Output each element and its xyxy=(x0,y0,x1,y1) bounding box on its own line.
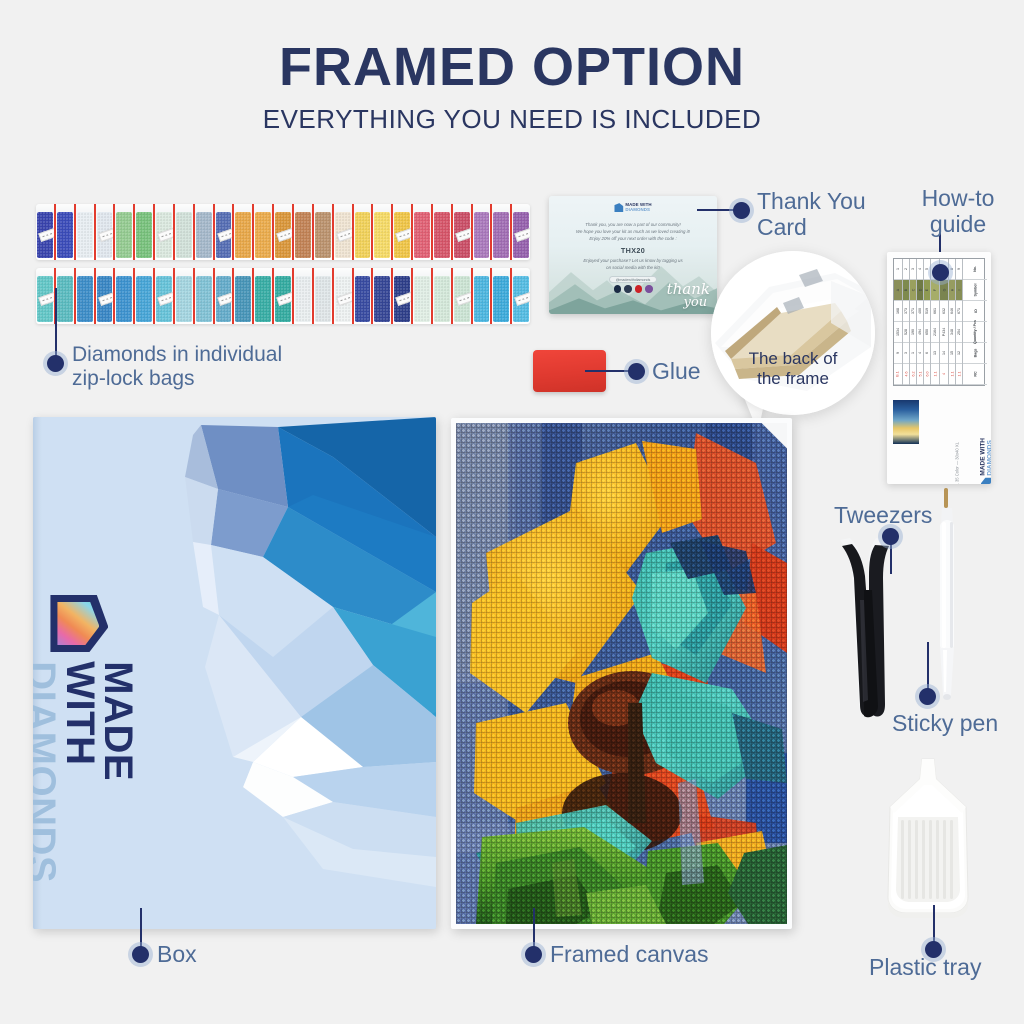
guide-table-cell: 632 xyxy=(940,301,948,322)
diamond-beads xyxy=(136,212,152,258)
zip-lock-bag xyxy=(433,204,453,260)
diamond-beads xyxy=(474,212,490,258)
zip-lock-bag xyxy=(274,204,294,260)
thank-you-card: MADE WITH DIAMONDS Thank you, you are no… xyxy=(549,196,717,314)
label-thank-you-line2: Card xyxy=(757,215,897,241)
diamond-beads xyxy=(355,276,371,322)
zip-lock-bag xyxy=(354,268,374,324)
guide-table-cell: 5 xyxy=(924,259,930,280)
diamond-beads xyxy=(474,276,490,322)
diamond-logo-icon xyxy=(50,595,108,652)
guide-table-cell: 1.1 xyxy=(931,364,939,385)
diamond-beads xyxy=(176,276,192,322)
guide-table-cell: H xyxy=(949,280,955,301)
diamond-beads xyxy=(196,212,212,258)
zip-lock-bag xyxy=(413,268,433,324)
zip-lock-bag xyxy=(433,268,453,324)
framed-canvas xyxy=(451,418,792,929)
diamond-beads xyxy=(434,212,450,258)
zip-lock-bag xyxy=(334,204,354,260)
guide-table-header-cell: Symbol xyxy=(963,280,987,301)
diamond-beads xyxy=(116,212,132,258)
guide-table-cell: 2 xyxy=(903,259,909,280)
diamond-beads xyxy=(295,276,311,322)
canvas-artwork xyxy=(456,423,787,924)
diamond-beads xyxy=(414,212,430,258)
label-how-to-line1: How-to xyxy=(893,186,1023,212)
guide-logo-bottom: DIAMONDS xyxy=(988,438,991,476)
guide-table-cell: 4 xyxy=(940,364,948,385)
zip-lock-bag xyxy=(393,204,413,260)
card-line-3: Enjoy 20% off your next order with the c… xyxy=(557,236,709,243)
zip-lock-bag xyxy=(215,204,235,260)
how-to-callout-dot[interactable] xyxy=(932,264,949,281)
label-plastic-tray-line1: Plastic tray xyxy=(869,955,981,981)
card-logo-bottom: DIAMONDS xyxy=(625,208,651,213)
guide-table-header-cell: RC xyxy=(963,364,987,385)
product-box: MADE WITH DIAMONDS xyxy=(33,417,436,929)
zip-lock-bag xyxy=(453,204,473,260)
diamond-beads xyxy=(57,212,73,258)
label-how-to-line2: guide xyxy=(893,212,1023,238)
zip-lock-bag xyxy=(373,268,393,324)
zip-lock-bag xyxy=(76,268,96,324)
zip-lock-bag xyxy=(334,268,354,324)
zip-lock-bag xyxy=(56,268,76,324)
guide-table-cell: G xyxy=(940,280,948,301)
zip-lock-bag xyxy=(512,268,530,324)
bubble-caption: The back of the frame xyxy=(711,349,875,389)
guide-table-cell: 646 xyxy=(949,301,955,322)
guide-table-cell: P434 xyxy=(940,322,948,343)
zip-lock-bag xyxy=(234,268,254,324)
diamond-beads xyxy=(255,276,271,322)
diamond-beads xyxy=(196,276,212,322)
zip-lock-bag xyxy=(36,268,56,324)
zip-lock-bag xyxy=(56,204,76,260)
zip-lock-bag xyxy=(254,204,274,260)
guide-table-header-column: No.SymbolIDQuantity / PcsBagsRC xyxy=(963,259,987,385)
box-logo-top: MADE WITH xyxy=(60,661,137,894)
guide-table-cell: 671 xyxy=(956,301,962,322)
bubble-caption-line1: The back of xyxy=(711,349,875,369)
tweezers-callout-dot[interactable] xyxy=(882,528,899,545)
pinterest-icon xyxy=(635,285,643,293)
guide-table-cell: 4 xyxy=(917,259,923,280)
card-line-4: Enjoyed your purchase? Let us know by ta… xyxy=(557,258,709,265)
diamond-beads xyxy=(493,276,509,322)
guide-table-row: 4D40049445.1 xyxy=(917,259,924,385)
label-diamonds-line2: zip-lock bags xyxy=(72,367,372,391)
guide-logo-text: MADE WITH DIAMONDS xyxy=(981,438,991,476)
glue-callout-dot[interactable] xyxy=(628,363,645,380)
diamond-beads xyxy=(295,212,311,258)
diamond-beads xyxy=(315,276,331,322)
label-glue: Glue xyxy=(652,359,701,385)
zip-lock-bag xyxy=(234,204,254,260)
card-thanks-script: thank you xyxy=(667,283,710,309)
guide-table-cell: 6.0 xyxy=(924,364,930,385)
guide-table-cell: B.1 xyxy=(894,364,902,385)
zip-lock-bag xyxy=(413,204,433,260)
box-logo-text: MADE WITH DIAMONDS xyxy=(33,661,137,894)
card-line-5: on social media with the kit! xyxy=(557,265,709,272)
guide-table-row: 8H646348151.1 xyxy=(949,259,956,385)
zip-lock-bag xyxy=(473,268,493,324)
label-framed-canvas: Framed canvas xyxy=(550,942,709,968)
zip-lock-bag xyxy=(492,268,512,324)
zip-lock-bag xyxy=(254,268,274,324)
diamond-beads xyxy=(434,276,450,322)
guide-table-cell: 348 xyxy=(949,322,955,343)
label-thank-you-card: Thank You Card xyxy=(757,189,897,241)
diamond-beads xyxy=(255,212,271,258)
zip-lock-bag xyxy=(76,204,96,260)
label-glue-line1: Glue xyxy=(652,359,701,385)
guide-note: No. 35 Color — 30x40 XL xyxy=(955,442,960,484)
zip-lock-bag xyxy=(115,268,135,324)
diamond-logo-icon xyxy=(981,478,991,484)
tweezers-leader-line xyxy=(890,540,892,574)
label-plastic-tray: Plastic tray xyxy=(869,955,981,981)
box-callout-dot[interactable] xyxy=(132,946,149,963)
card-line-1: Thank you, you are now a part of our com… xyxy=(557,222,709,229)
guide-table-cell: 4.6 xyxy=(903,364,909,385)
guide-table-cell: B xyxy=(903,280,909,301)
guide-table-cell: 14 xyxy=(940,343,948,364)
box-logo-bottom: DIAMONDS xyxy=(33,661,60,894)
guide-table-cell: 1534 xyxy=(894,322,902,343)
zip-lock-bag xyxy=(453,268,473,324)
label-how-to-guide: How-to guide xyxy=(893,186,1023,238)
label-tweezers-line1: Tweezers xyxy=(834,503,932,529)
guide-table-cell: 400 xyxy=(917,301,923,322)
guide-table-cell: 519 xyxy=(924,301,930,322)
zip-lock-bag xyxy=(96,268,116,324)
label-box-line1: Box xyxy=(157,942,197,968)
diamond-beads xyxy=(374,212,390,258)
guide-table-header-cell: ID xyxy=(963,301,987,322)
guide-table-row: 2B37352834.6 xyxy=(903,259,910,385)
frame-back-bubble: The back of the frame xyxy=(711,251,875,415)
box-logo: MADE WITH DIAMONDS xyxy=(33,595,137,894)
card-discount-code: THX20 xyxy=(557,246,709,255)
instagram-icon xyxy=(624,285,632,293)
label-sticky-pen: Sticky pen xyxy=(892,711,998,737)
guide-table-cell: 528 xyxy=(903,322,909,343)
guide-table-cell: 168 xyxy=(894,301,902,322)
guide-table-cell: 373 xyxy=(903,301,909,322)
diamond-beads xyxy=(57,276,73,322)
zip-lock-bag xyxy=(135,268,155,324)
guide-table-cell: E xyxy=(924,280,930,301)
guide-table-cell: 8 xyxy=(949,259,955,280)
guide-table-row: 5E51965066.0 xyxy=(924,259,931,385)
plastic-tray-leader-line xyxy=(933,905,935,945)
diamond-beads xyxy=(235,212,251,258)
guide-table-cell: D xyxy=(917,280,923,301)
facebook-icon xyxy=(614,285,622,293)
guide-table-cell: F xyxy=(931,280,939,301)
zip-lock-bag xyxy=(314,204,334,260)
guide-table-cell: 9 xyxy=(956,259,962,280)
label-tweezers: Tweezers xyxy=(834,503,932,529)
label-diamonds: Diamonds in individual zip-lock bags xyxy=(72,343,372,390)
canvas-corner-fold xyxy=(761,423,787,449)
glue-leader-line xyxy=(585,370,633,372)
guide-table-cell: 2164 xyxy=(931,322,939,343)
bubble-caption-line2: the frame xyxy=(711,369,875,389)
guide-table-cell: 494 xyxy=(917,322,923,343)
guide-table-cell: 1.1 xyxy=(949,364,955,385)
diamond-beads xyxy=(136,276,152,322)
box-leader-line xyxy=(140,908,142,950)
diamond-beads xyxy=(77,212,93,258)
zip-lock-bag xyxy=(274,268,294,324)
guide-table-cell: C xyxy=(910,280,916,301)
diamond-beads xyxy=(176,212,192,258)
guide-table-cell: 371 xyxy=(910,301,916,322)
label-diamonds-line1: Diamonds in individual xyxy=(72,343,372,367)
diamond-beads xyxy=(116,276,132,322)
framed-canvas-leader-line xyxy=(533,908,535,950)
infographic-canvas: FRAMED OPTION EVERYTHING YOU NEED IS INC… xyxy=(0,0,1024,1024)
card-logo: MADE WITH DIAMONDS xyxy=(614,203,651,212)
zip-lock-bag xyxy=(294,268,314,324)
zip-lock-bag xyxy=(314,268,334,324)
zip-lock-bag xyxy=(175,268,195,324)
zip-lock-bag xyxy=(492,204,512,260)
guide-table-cell: 650 xyxy=(924,322,930,343)
how-to-guide-sheet: 1A16815349B.12B37352834.63C37119016.24D4… xyxy=(887,252,991,484)
zip-lock-bag xyxy=(195,204,215,260)
guide-table-cell: 6 xyxy=(924,343,930,364)
guide-table-row: 1A16815349B.1 xyxy=(894,259,903,385)
zip-lock-bag-strip-bottom xyxy=(36,268,530,324)
zip-lock-bag xyxy=(473,204,493,260)
sunflower-butterfly-art xyxy=(456,423,787,924)
guide-table-header-cell: No. xyxy=(963,259,987,280)
guide-table-row: 3C37119016.2 xyxy=(910,259,917,385)
page-title: FRAMED OPTION xyxy=(0,36,1024,98)
guide-table-header-cell: Bags xyxy=(963,343,987,364)
diamond-beads xyxy=(414,276,430,322)
card-logo-text: MADE WITH DIAMONDS xyxy=(625,203,651,212)
guide-logo: MADE WITH DIAMONDS xyxy=(981,438,991,484)
label-framed-canvas-line1: Framed canvas xyxy=(550,942,709,968)
zip-lock-bag xyxy=(512,204,530,260)
framed-canvas-callout-dot[interactable] xyxy=(525,946,542,963)
guide-table-cell: 3 xyxy=(910,259,916,280)
guide-table-cell: 6.2 xyxy=(910,364,916,385)
card-thanks-bottom: you xyxy=(667,297,710,309)
guide-table-header-cell: Quantity / Pcs xyxy=(963,322,987,343)
guide-table-cell: 3 xyxy=(903,343,909,364)
guide-table-cell: 1 xyxy=(910,343,916,364)
sticky-pen-callout-dot[interactable] xyxy=(919,688,936,705)
zip-lock-bag xyxy=(155,204,175,260)
sticky-pen-icon xyxy=(932,488,962,706)
zip-lock-bag xyxy=(175,204,195,260)
guide-table-cell: 15 xyxy=(949,343,955,364)
guide-table-cell: 5.1 xyxy=(917,364,923,385)
guide-table-cell: 9 xyxy=(894,343,902,364)
guide-table-cell: A xyxy=(894,280,902,301)
diamond-beads xyxy=(235,276,251,322)
plastic-tray-icon xyxy=(870,757,986,932)
sticky-pen-leader-line xyxy=(927,642,929,692)
guide-table-row: 9I671254121.1 xyxy=(956,259,963,385)
card-line-2: We hope you love your kit as much as we … xyxy=(557,229,709,236)
thank-you-callout-dot[interactable] xyxy=(733,202,750,219)
diamond-beads xyxy=(315,212,331,258)
zip-lock-bag xyxy=(393,268,413,324)
guide-table-cell: 254 xyxy=(956,322,962,343)
zip-lock-bag xyxy=(195,268,215,324)
zip-lock-bag xyxy=(135,204,155,260)
youtube-icon xyxy=(645,285,653,293)
guide-table-cell: 13 xyxy=(931,343,939,364)
frame-corner-photo xyxy=(711,251,875,415)
guide-preview-image xyxy=(893,400,919,444)
diamond-beads xyxy=(493,212,509,258)
label-box: Box xyxy=(157,942,197,968)
diamonds-leader-line xyxy=(55,288,57,360)
guide-table-cell: 1.1 xyxy=(956,364,962,385)
guide-table-cell: 190 xyxy=(910,322,916,343)
guide-table-cell: 4 xyxy=(917,343,923,364)
zip-lock-bag xyxy=(115,204,135,260)
zip-lock-bag xyxy=(155,268,175,324)
diamond-beads xyxy=(77,276,93,322)
zip-lock-bag-strip-top xyxy=(36,204,530,260)
guide-table-cell: I xyxy=(956,280,962,301)
guide-table-cell: 12 xyxy=(956,343,962,364)
guide-table-cell: 1 xyxy=(894,259,902,280)
zip-lock-bag xyxy=(96,204,116,260)
diamond-beads xyxy=(374,276,390,322)
zip-lock-bag xyxy=(354,204,374,260)
diamond-logo-icon xyxy=(614,203,623,212)
label-sticky-pen-line1: Sticky pen xyxy=(892,711,998,737)
card-social-handle: @madewithdiamonds xyxy=(609,276,657,283)
zip-lock-bag xyxy=(373,204,393,260)
diamond-beads xyxy=(355,212,371,258)
guide-table-cell: 661 xyxy=(931,301,939,322)
page-subtitle: EVERYTHING YOU NEED IS INCLUDED xyxy=(0,104,1024,135)
zip-lock-bag xyxy=(215,268,235,324)
diamonds-callout-dot[interactable] xyxy=(47,355,64,372)
zip-lock-bag xyxy=(36,204,56,260)
label-thank-you-line1: Thank You xyxy=(757,189,897,215)
zip-lock-bag xyxy=(294,204,314,260)
